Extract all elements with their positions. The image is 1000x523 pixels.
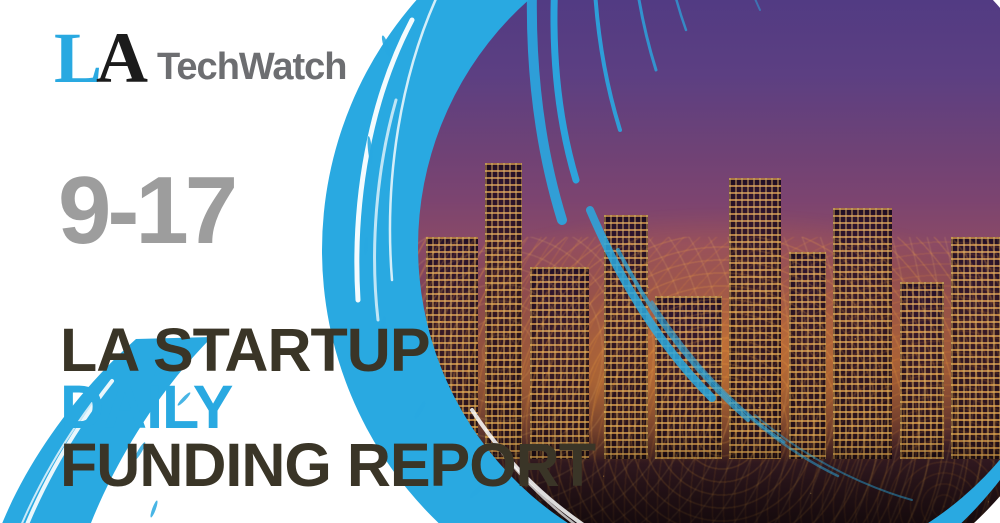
- headline-line-3: FUNDING REPORT: [60, 437, 595, 494]
- headline-line-1: LA STARTUP: [60, 322, 595, 379]
- logo-letter-a: A: [96, 22, 147, 94]
- logo-wordmark: TechWatch: [157, 48, 346, 86]
- headline-line-2: DAILY: [60, 379, 595, 436]
- la-techwatch-logo[interactable]: L A TechWatch: [54, 22, 347, 94]
- logo-letter-l: L: [54, 22, 100, 94]
- date-label: 9-17: [58, 163, 234, 259]
- page-title: LA STARTUP DAILY FUNDING REPORT: [60, 322, 595, 494]
- promo-banner: L A TechWatch 9-17 LA STARTUP DAILY FUND…: [0, 0, 1000, 523]
